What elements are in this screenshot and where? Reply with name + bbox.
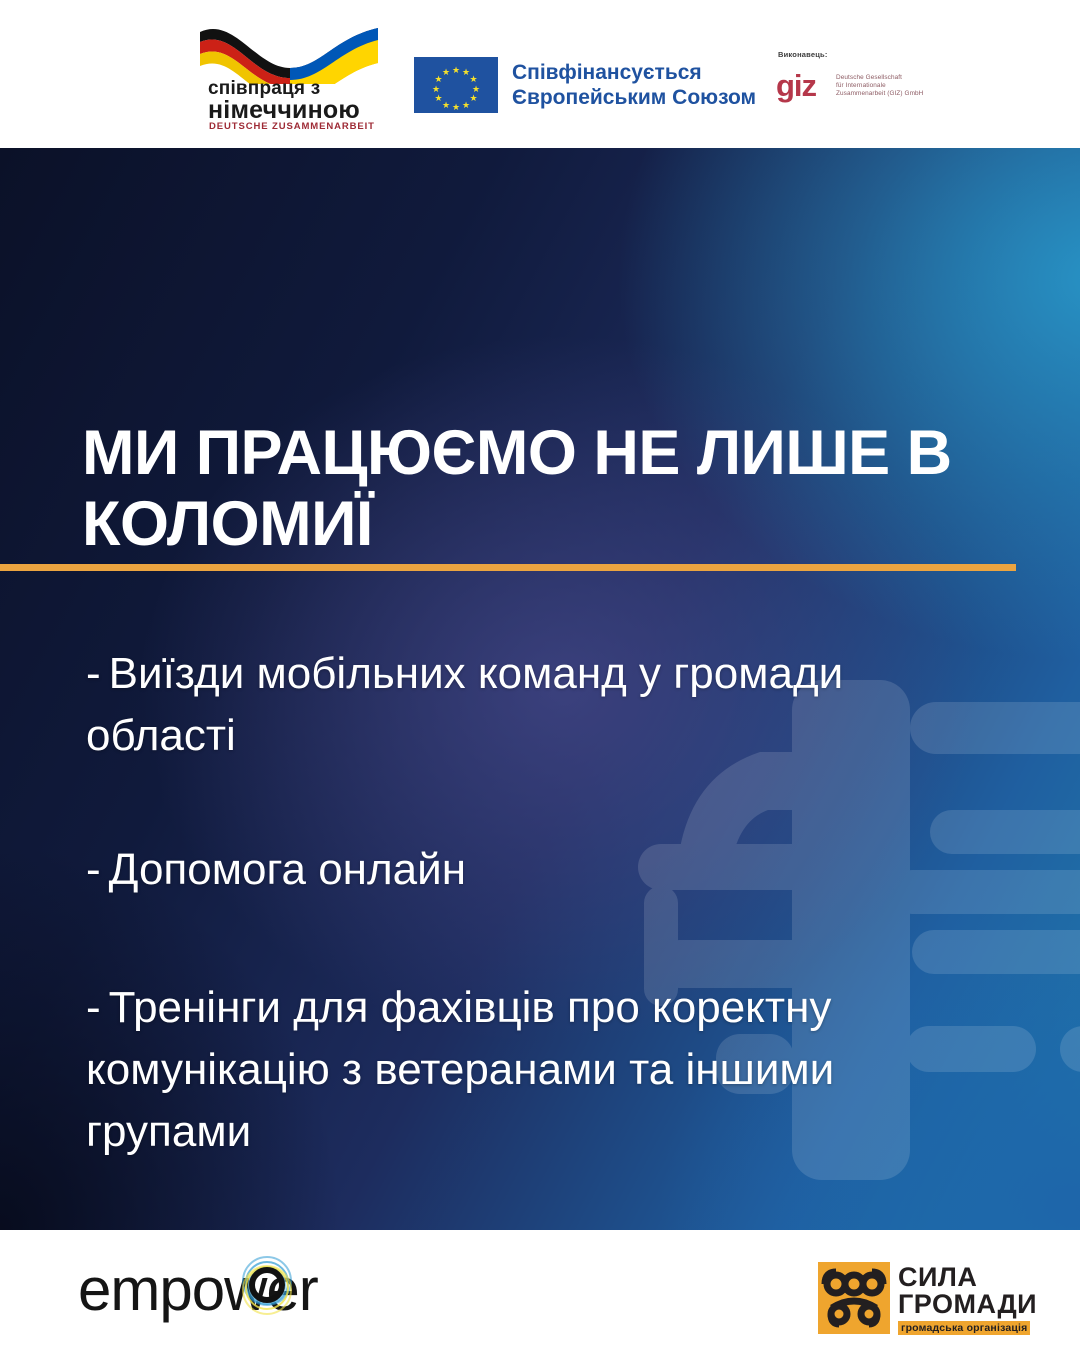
list-item: -Виїзди мобільних команд у громади облас… — [86, 643, 946, 767]
giz-subtitle-line3: Zusammenarbeit (GIZ) GmbH — [836, 90, 923, 98]
syla-hromady-text: СИЛА ГРОМАДИ громадська організація — [898, 1262, 1037, 1336]
german-logo-line3: DEUTSCHE ZUSAMMENARBEIT — [209, 121, 375, 132]
giz-implementer-logo: Виконавець: giz Deutsche Gesellschaft fü… — [774, 50, 924, 112]
eu-logo-text: Співфінансується Європейським Союзом — [512, 60, 756, 110]
syla-line3: громадська організація — [898, 1321, 1030, 1335]
german-ukrainian-flag-wave-icon — [194, 22, 384, 84]
syla-ornament-icon — [818, 1262, 890, 1334]
syla-hromady-logo: СИЛА ГРОМАДИ громадська організація — [818, 1262, 1032, 1340]
donor-logos-bar: співпраця з німеччиною DEUTSCHE ZUSAMMEN… — [0, 0, 1080, 148]
bullet-text: Допомога онлайн — [109, 845, 466, 894]
eu-cofunded-logo: ★ ★ ★ ★ ★ ★ ★ ★ ★ ★ ★ ★ Співфінансується… — [414, 57, 756, 113]
bullet-dash: - — [86, 983, 101, 1032]
empower-ring-icon — [236, 1254, 298, 1316]
main-slide-panel: МИ ПРАЦЮЄМО НЕ ЛИШЕ В КОЛОМИЇ -Виїзди мо… — [0, 148, 1080, 1230]
list-item: -Тренінги для фахівців про коректну кому… — [86, 977, 946, 1163]
empower-logo: empower — [78, 1260, 318, 1322]
eu-flag-icon: ★ ★ ★ ★ ★ ★ ★ ★ ★ ★ ★ ★ — [414, 57, 498, 113]
bullet-text: Тренінги для фахівців про коректну комун… — [86, 983, 834, 1156]
bullet-dash: - — [86, 845, 101, 894]
giz-subtitle-line1: Deutsche Gesellschaft — [836, 74, 923, 82]
gold-divider — [0, 564, 1016, 571]
syla-line1: СИЛА — [898, 1264, 1037, 1290]
bullet-text: Виїзди мобільних команд у громади област… — [86, 649, 843, 760]
bullet-dash: - — [86, 649, 101, 698]
giz-caption: Виконавець: — [778, 50, 828, 59]
giz-subtitle-line2: für Internationale — [836, 82, 923, 90]
eu-logo-line2: Європейським Союзом — [512, 85, 756, 110]
giz-subtitle: Deutsche Gesellschaft für Internationale… — [836, 74, 923, 99]
giz-wordmark: giz — [776, 70, 816, 101]
german-cooperation-logo: співпраця з німеччиною DEUTSCHE ZUSAMMEN… — [186, 22, 386, 130]
eu-logo-line1: Співфінансується — [512, 60, 756, 85]
list-item: -Допомога онлайн — [86, 839, 946, 901]
syla-hromady-mark-icon — [818, 1262, 890, 1334]
bullet-list: -Виїзди мобільних команд у громади облас… — [86, 643, 946, 1230]
syla-line2: ГРОМАДИ — [898, 1290, 1037, 1318]
page-title: МИ ПРАЦЮЄМО НЕ ЛИШЕ В КОЛОМИЇ — [82, 418, 982, 560]
